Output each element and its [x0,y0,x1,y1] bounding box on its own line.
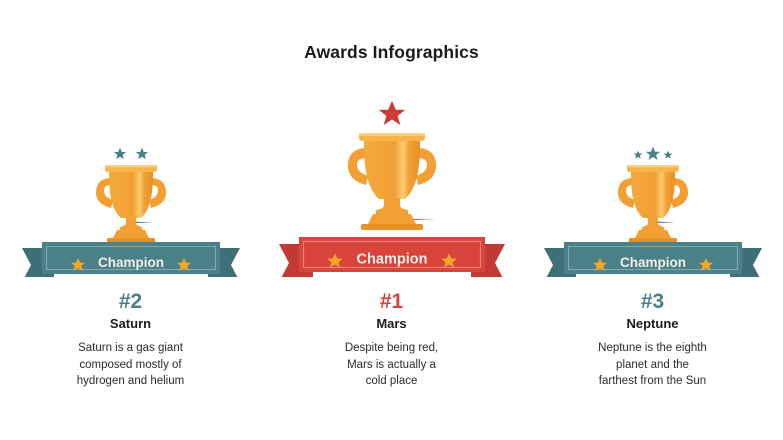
planet-description: Saturn is a gas giant composed mostly of… [16,340,246,390]
ribbon-label: Champion [356,251,427,267]
planet-name: Mars [277,317,507,332]
award-caption-neptune: #3 Neptune Neptune is the eighth planet … [538,291,768,390]
award-column-mars[interactable]: Champion #1 Mars Despite being red, Mars… [261,92,522,390]
award-caption-saturn: #2 Saturn Saturn is a gas giant composed… [16,291,246,390]
ribbon-label: Champion [620,255,686,270]
ribbon-label: Champion [98,255,164,270]
rank-label: #1 [277,291,507,313]
rank-label: #2 [16,291,246,313]
slide-canvas: Awards Infographics [0,0,783,440]
planet-name: Neptune [538,317,768,332]
award-badge-saturn: Champion [16,92,246,277]
planet-description: Despite being red, Mars is actually a co… [277,340,507,390]
planet-name: Saturn [16,317,246,332]
rank-label: #3 [538,291,768,313]
page-title: Awards Infographics [0,42,783,63]
award-columns: Champion #2 Saturn Saturn is a gas giant… [0,92,783,422]
top-star-icon [378,101,404,125]
award-badge-mars: Champion [277,92,507,277]
stars-above-icon [113,148,147,159]
planet-description: Neptune is the eighth planet and the far… [538,340,768,390]
trophy-icon [347,133,435,230]
award-column-saturn[interactable]: Champion #2 Saturn Saturn is a gas giant… [0,92,261,390]
award-caption-mars: #1 Mars Despite being red, Mars is actua… [277,291,507,390]
ribbon-banner: Champion [279,237,505,277]
award-column-neptune[interactable]: Champion #3 Neptune Neptune is the eight… [522,92,783,390]
ribbon-banner: Champion [544,242,762,277]
ribbon-banner: Champion [22,242,240,277]
stars-above-icon [633,147,672,160]
award-badge-neptune: Champion [538,92,768,277]
